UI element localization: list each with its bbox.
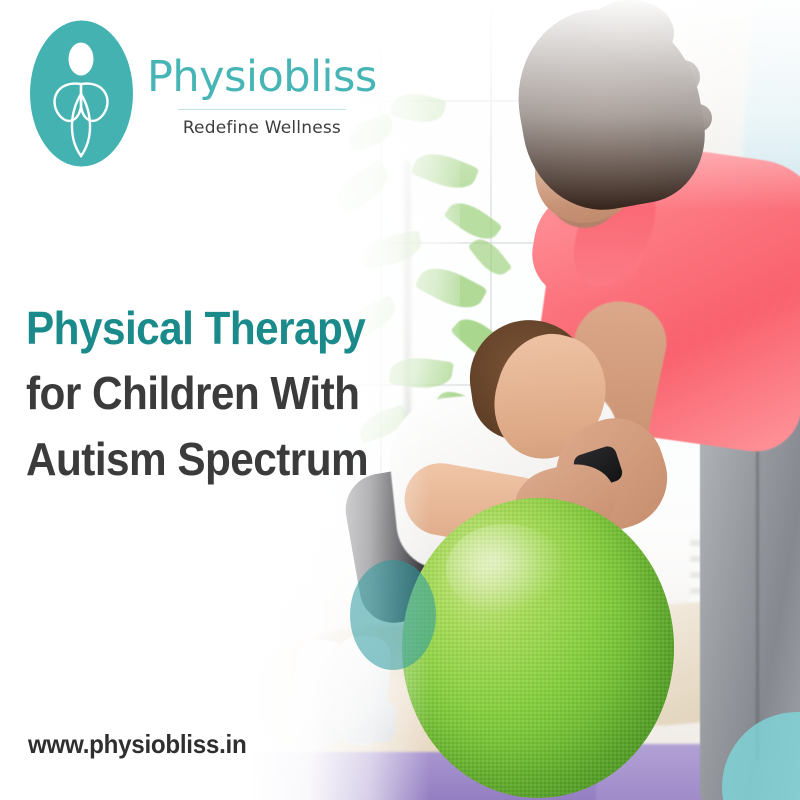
decorative-circle-teal xyxy=(350,560,436,670)
promo-banner: Physiobliss Redefine Wellness Physical T… xyxy=(0,0,800,800)
therapist-leg-seam xyxy=(756,430,759,760)
brand-lockup: Physiobliss Redefine Wellness xyxy=(147,49,377,138)
headline-line-2: for Children With xyxy=(26,361,368,426)
website-url[interactable]: www.physiobliss.in xyxy=(28,729,246,760)
brand-tagline: Redefine Wellness xyxy=(183,118,341,138)
headline-line-3: Autism Spectrum xyxy=(26,427,368,492)
brand-logo[interactable]: Physiobliss Redefine Wellness xyxy=(30,16,377,171)
headline-line-1: Physical Therapy xyxy=(26,296,368,361)
page-title: Physical Therapy for Children With Autis… xyxy=(26,296,368,492)
exercise-ball xyxy=(402,498,674,798)
leaf-figure-icon xyxy=(30,16,133,171)
brand-divider xyxy=(178,109,346,110)
brand-name: Physiobliss xyxy=(147,55,377,100)
therapist-hair-bun xyxy=(586,0,674,66)
